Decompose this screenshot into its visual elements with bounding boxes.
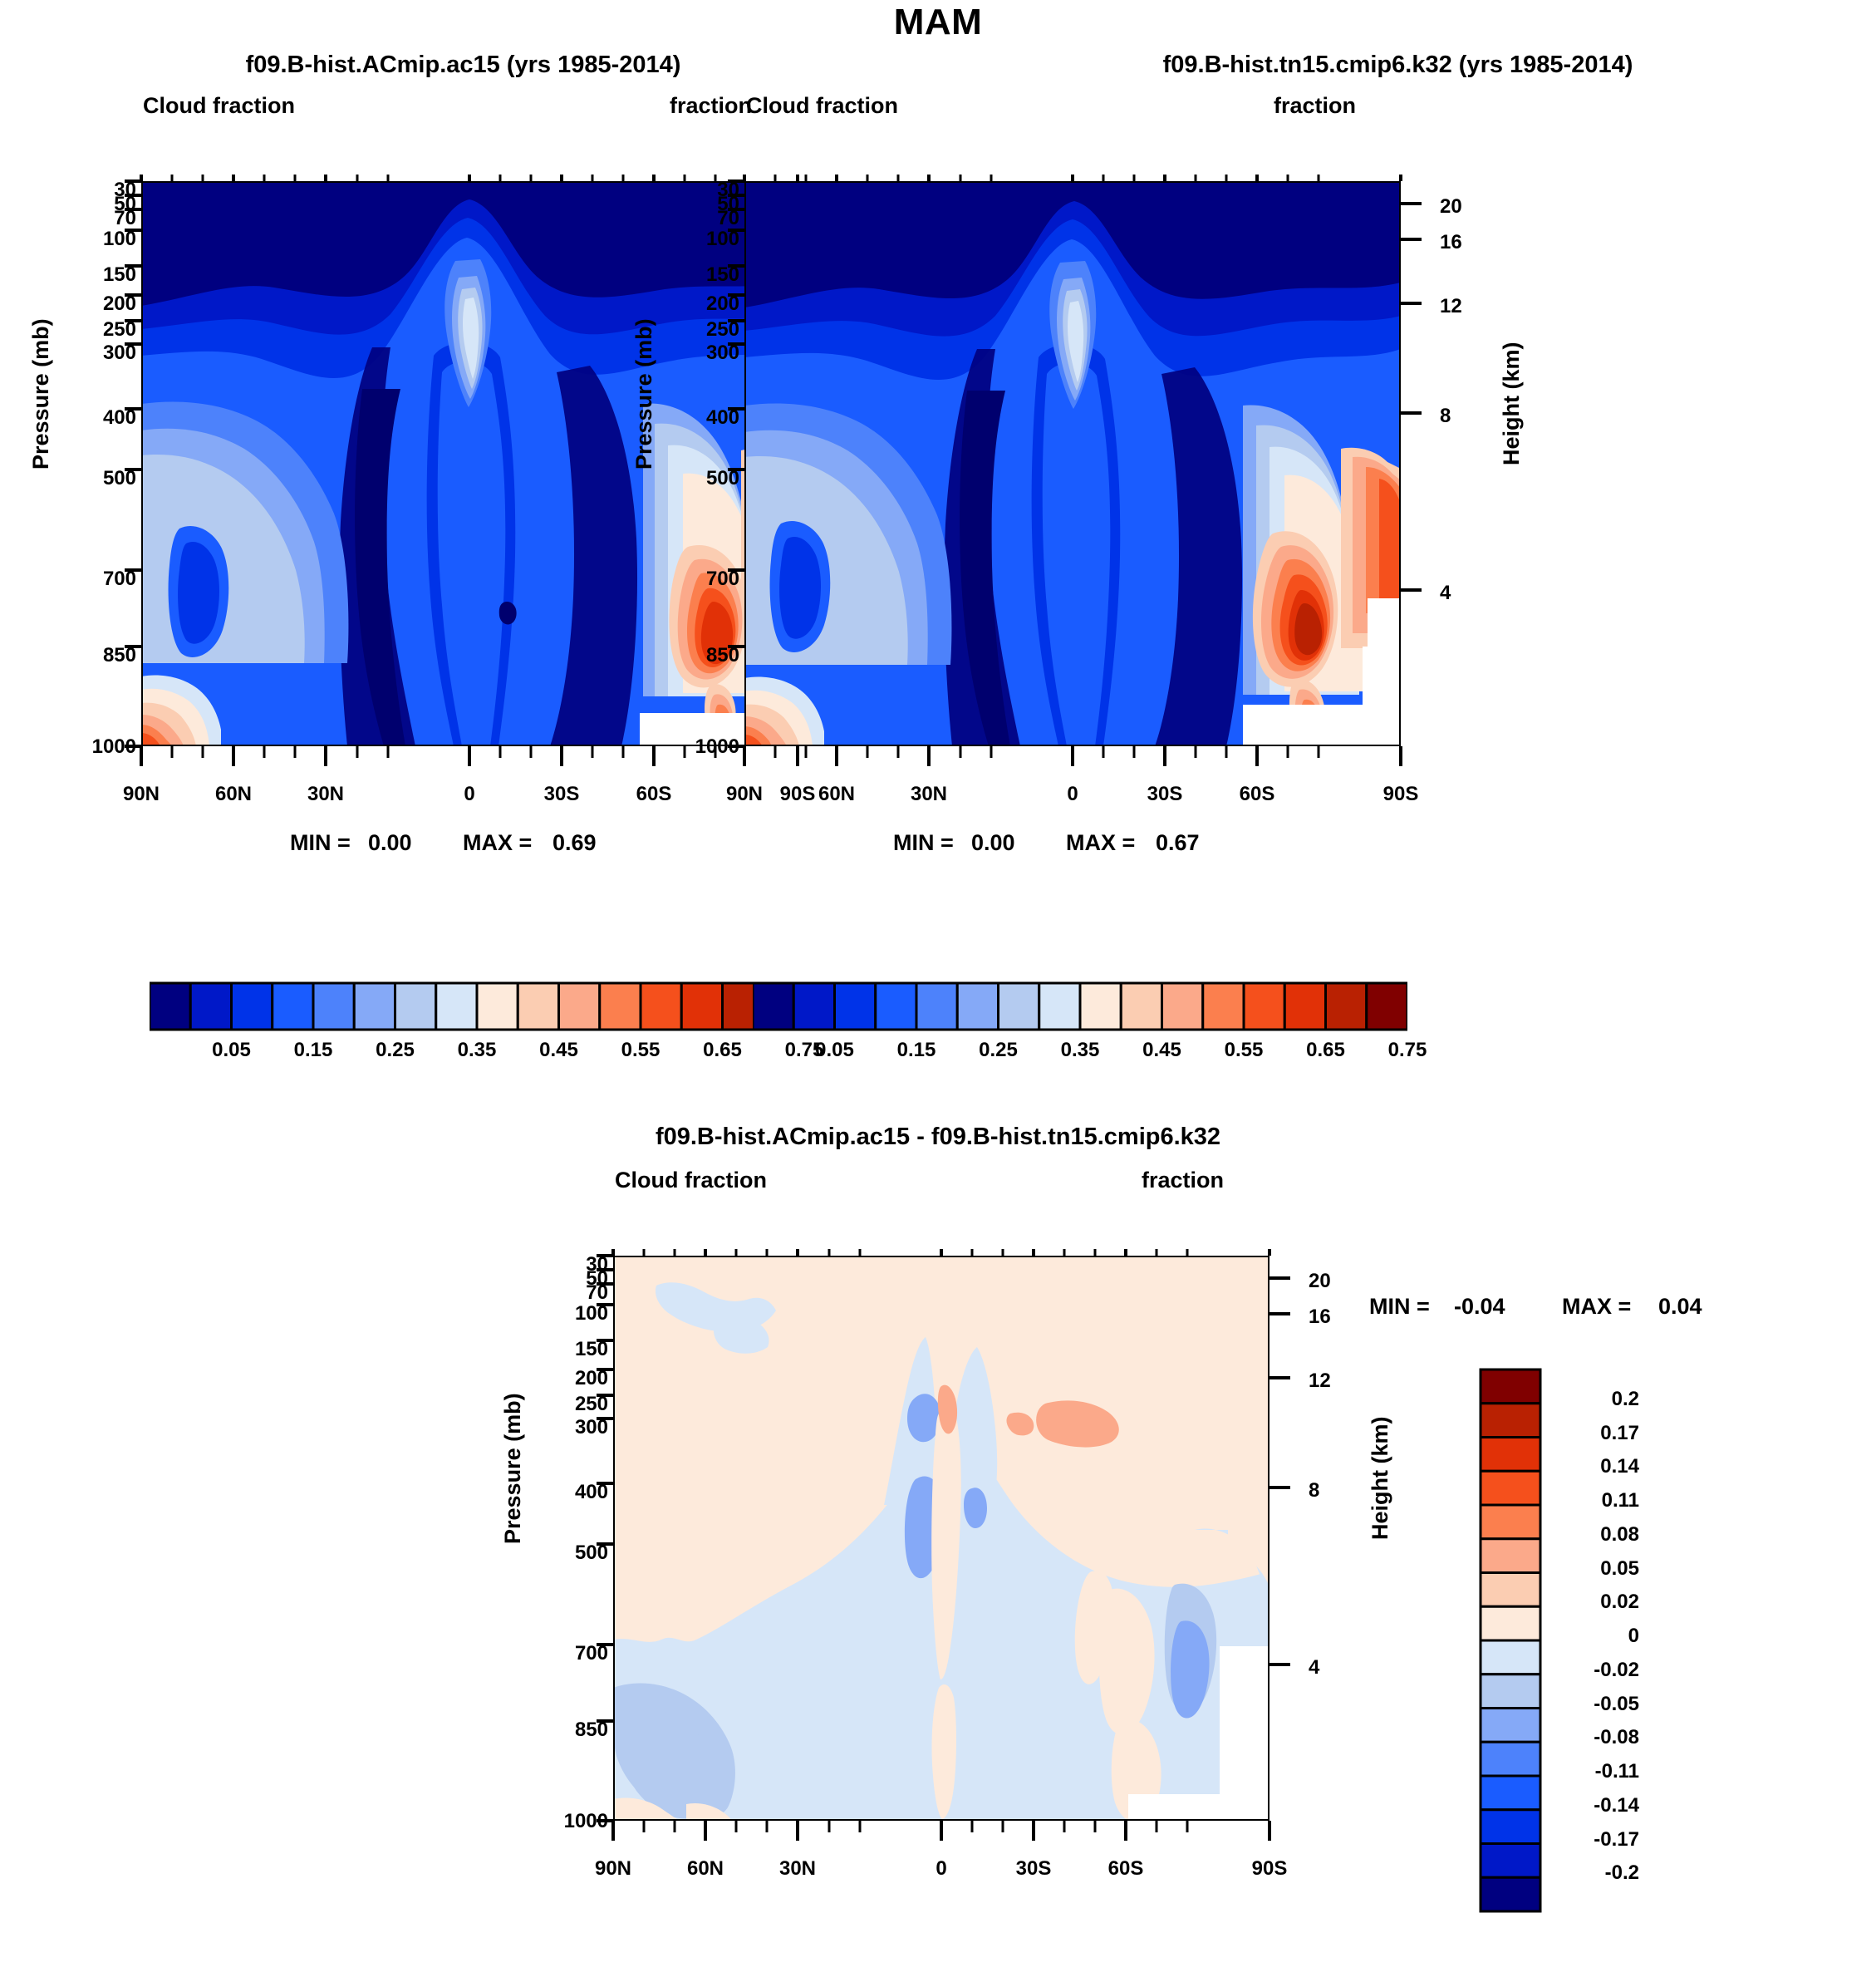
right-lat-tick: 0: [1039, 783, 1106, 806]
diff-lat-tick: 30S: [1000, 1857, 1067, 1881]
diff-panel-pressure-axis-title: Pressure (mb): [500, 1393, 526, 1544]
colorbar-tick-label: 0.45: [513, 1039, 605, 1062]
diff-lat-tick: 90N: [580, 1857, 646, 1881]
colorbar-tick-label: -0.17: [1549, 1828, 1639, 1851]
colorbar-tick-label: 0.2: [1549, 1388, 1639, 1411]
colorbar-cell: [1481, 1606, 1540, 1640]
left-panel-variable-label: Cloud fraction: [143, 93, 295, 119]
colorbar-cell: [1481, 1438, 1540, 1472]
colorbar-cell: [1121, 983, 1161, 1030]
colorbar-cell: [313, 983, 354, 1030]
colorbar-cell: [1481, 1810, 1540, 1844]
colorbar-cell: [232, 983, 273, 1030]
colorbar-cell: [1481, 1640, 1540, 1674]
colorbar-tick-label: 0.65: [1280, 1039, 1372, 1062]
diff-panel-height-axis-title: Height (km): [1368, 1417, 1393, 1541]
figure-suptitle: MAM: [0, 2, 1876, 43]
left-panel-min-value: 0.00: [368, 830, 412, 856]
colorbar-cell: [436, 983, 477, 1030]
right-panel-max-label: MAX =: [1066, 830, 1135, 856]
right-lat-tick: 60N: [803, 783, 870, 806]
diff-lat-tick: 0: [908, 1857, 975, 1881]
diff-panel-variable-label: Cloud fraction: [615, 1168, 767, 1193]
colorbar-tick-label: 0.45: [1117, 1039, 1208, 1062]
right-lat-tick: 90N: [711, 783, 778, 806]
left-panel-max-value: 0.69: [552, 830, 597, 856]
right-panel-axis-ticks: [711, 175, 1476, 773]
colorbar-tick-label: 0.05: [789, 1039, 881, 1062]
colorbar-cell: [559, 983, 600, 1030]
left-panel-units-label: fraction: [670, 93, 752, 119]
left-panel-pressure-axis-title: Pressure (mb): [28, 318, 54, 470]
colorbar-cell: [835, 983, 876, 1030]
left-colorbar-labels: 0.050.150.250.350.450.550.650.75: [150, 1039, 804, 1072]
colorbar-cell: [1367, 983, 1407, 1030]
colorbar-cell: [957, 983, 998, 1030]
colorbar-tick-label: 0.15: [268, 1039, 359, 1062]
colorbar-cell: [1481, 1877, 1540, 1911]
diff-panel-max-value: 0.04: [1658, 1294, 1702, 1320]
diff-panel-max-label: MAX =: [1562, 1294, 1631, 1320]
diff-colorbar: [1478, 1367, 1543, 1914]
left-panel-title: f09.B-hist.ACmip.ac15 (yrs 1985-2014): [17, 52, 910, 79]
colorbar-tick-label: -0.11: [1549, 1760, 1639, 1783]
colorbar-tick-label: 0.05: [1549, 1557, 1639, 1581]
right-colorbar-labels: 0.050.150.250.350.450.550.650.75: [753, 1039, 1407, 1072]
colorbar-cell: [395, 983, 436, 1030]
right-lat-tick: 30S: [1132, 783, 1198, 806]
colorbar-tick-label: 0.35: [1034, 1039, 1126, 1062]
diff-panel-units-label: fraction: [1142, 1168, 1224, 1193]
colorbar-cell: [1481, 1674, 1540, 1709]
right-panel-title: f09.B-hist.tn15.cmip6.k32 (yrs 1985-2014…: [951, 52, 1844, 79]
colorbar-cell: [916, 983, 957, 1030]
colorbar-cell: [1284, 983, 1325, 1030]
colorbar-cell: [1481, 1539, 1540, 1573]
colorbar-cell: [1481, 1844, 1540, 1878]
colorbar-tick-label: 0.05: [186, 1039, 277, 1062]
left-lat-tick: 30S: [528, 783, 595, 806]
left-lat-tick: 30N: [292, 783, 359, 806]
left-lat-tick: 90N: [108, 783, 174, 806]
colorbar-cell: [354, 983, 395, 1030]
colorbar-cell: [999, 983, 1039, 1030]
left-colorbar: [150, 981, 804, 1032]
diff-lat-tick: 60N: [672, 1857, 739, 1881]
right-panel-max-value: 0.67: [1156, 830, 1200, 856]
colorbar-cell: [273, 983, 313, 1030]
colorbar-cell: [1244, 983, 1284, 1030]
right-lat-tick: 30N: [896, 783, 962, 806]
left-lat-tick: 60S: [621, 783, 687, 806]
right-panel-min-value: 0.00: [971, 830, 1015, 856]
diff-panel-min-label: MIN =: [1369, 1294, 1430, 1320]
colorbar-cell: [600, 983, 641, 1030]
colorbar-tick-label: 0.35: [431, 1039, 523, 1062]
colorbar-cell: [518, 983, 558, 1030]
right-panel-min-label: MIN =: [893, 830, 954, 856]
colorbar-tick-label: 0.25: [953, 1039, 1044, 1062]
diff-lat-tick: 60S: [1093, 1857, 1159, 1881]
colorbar-cell: [1481, 1404, 1540, 1438]
left-lat-tick: 60N: [200, 783, 267, 806]
colorbar-tick-label: 0.11: [1549, 1489, 1639, 1512]
colorbar-tick-label: -0.2: [1549, 1861, 1639, 1885]
colorbar-cell: [1203, 983, 1244, 1030]
right-panel-pressure-axis-title: Pressure (mb): [631, 318, 657, 470]
right-colorbar: [753, 981, 1407, 1032]
colorbar-tick-label: -0.08: [1549, 1726, 1639, 1749]
colorbar-cell: [793, 983, 834, 1030]
colorbar-cell: [876, 983, 916, 1030]
colorbar-cell: [1481, 1776, 1540, 1810]
colorbar-cell: [1162, 983, 1203, 1030]
colorbar-tick-label: 0.08: [1549, 1523, 1639, 1547]
colorbar-tick-label: -0.14: [1549, 1794, 1639, 1817]
right-panel-height-axis-title: Height (km): [1499, 342, 1525, 466]
colorbar-cell: [1326, 983, 1367, 1030]
colorbar-cell: [1080, 983, 1121, 1030]
diff-panel-title: f09.B-hist.ACmip.ac15 - f09.B-hist.tn15.…: [440, 1124, 1436, 1151]
right-lat-tick: 60S: [1224, 783, 1290, 806]
colorbar-tick-label: 0.02: [1549, 1591, 1639, 1614]
diff-panel-min-value: -0.04: [1454, 1294, 1505, 1320]
colorbar-tick-label: 0.55: [1198, 1039, 1289, 1062]
right-lat-tick: 90S: [1368, 783, 1434, 806]
colorbar-tick-label: 0: [1549, 1625, 1639, 1648]
right-panel-units-label: fraction: [1274, 93, 1356, 119]
colorbar-cell: [753, 983, 793, 1030]
colorbar-cell: [1039, 983, 1080, 1030]
colorbar-tick-label: -0.02: [1549, 1659, 1639, 1682]
colorbar-cell: [1481, 1505, 1540, 1539]
colorbar-cell: [641, 983, 681, 1030]
colorbar-tick-label: 0.14: [1549, 1455, 1639, 1478]
left-lat-tick: 0: [436, 783, 503, 806]
colorbar-cell: [477, 983, 518, 1030]
colorbar-tick-label: 0.55: [595, 1039, 686, 1062]
left-panel-max-label: MAX =: [463, 830, 532, 856]
diff-colorbar-labels: 0.20.170.140.110.080.050.020-0.02-0.05-0…: [1549, 1367, 1707, 1914]
right-panel-variable-label: Cloud fraction: [746, 93, 898, 119]
colorbar-cell: [1481, 1573, 1540, 1607]
diff-panel-axis-ticks: [580, 1249, 1344, 1847]
colorbar-cell: [190, 983, 231, 1030]
colorbar-tick-label: 0.15: [871, 1039, 962, 1062]
colorbar-cell: [1481, 1709, 1540, 1743]
diff-lat-tick: 90S: [1236, 1857, 1303, 1881]
colorbar-cell: [1481, 1471, 1540, 1505]
colorbar-cell: [150, 983, 190, 1030]
colorbar-cell: [1481, 1370, 1540, 1404]
colorbar-tick-label: 0.17: [1549, 1422, 1639, 1445]
colorbar-tick-label: 0.25: [350, 1039, 441, 1062]
colorbar-tick-label: -0.05: [1549, 1693, 1639, 1716]
colorbar-tick-label: 0.75: [1362, 1039, 1453, 1062]
colorbar-cell: [1481, 1742, 1540, 1776]
left-panel-min-label: MIN =: [290, 830, 351, 856]
colorbar-cell: [681, 983, 722, 1030]
diff-lat-tick: 30N: [764, 1857, 831, 1881]
